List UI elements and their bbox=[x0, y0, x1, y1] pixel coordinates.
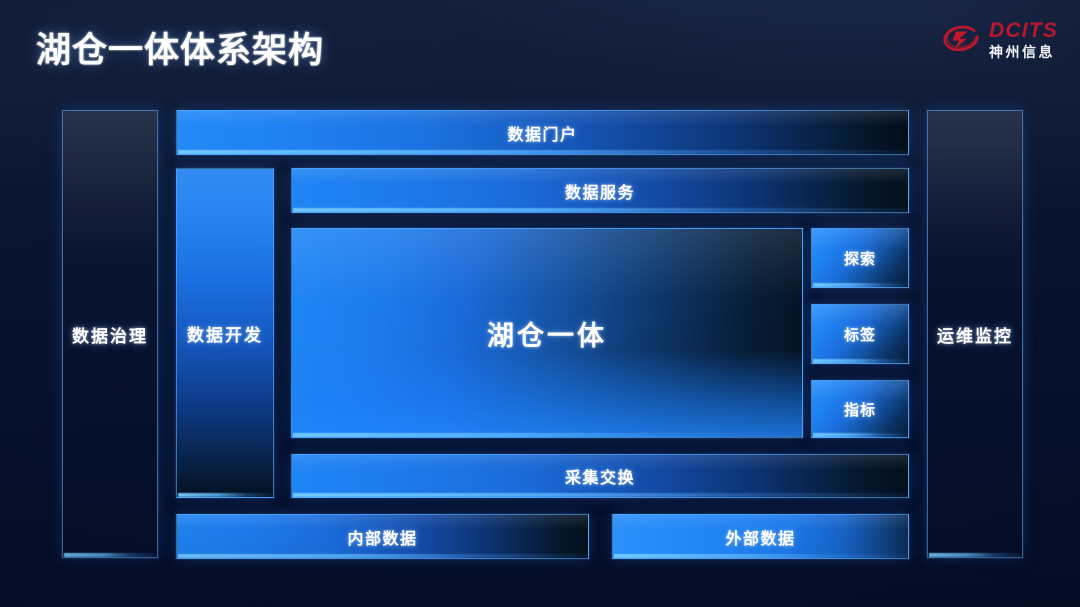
logo-subtitle: 神州信息 bbox=[989, 45, 1058, 59]
panel-tile-explore-label: 探索 bbox=[844, 248, 876, 269]
logo-wordmark: DCITS 神州信息 bbox=[989, 20, 1058, 59]
panel-tile-tags-label: 标签 bbox=[844, 324, 876, 345]
panel-data-portal-label: 数据门户 bbox=[507, 121, 577, 145]
panel-data-service-label: 数据服务 bbox=[565, 179, 635, 203]
page-title: 湖仓一体体系架构 bbox=[36, 22, 324, 73]
panel-lakehouse-core-label: 湖仓一体 bbox=[487, 314, 607, 353]
swirl-logo-icon bbox=[940, 22, 982, 58]
brand-logo: DCITS 神州信息 bbox=[940, 20, 1058, 59]
slide-root: 湖仓一体体系架构 DCITS 神州信息 数据治理 数据门户 数据开发 数据服 bbox=[0, 0, 1080, 607]
panel-tile-explore[interactable]: 探索 bbox=[811, 228, 909, 288]
panel-collect-exchange[interactable]: 采集交换 bbox=[291, 454, 909, 498]
panel-ops-monitoring[interactable]: 运维监控 bbox=[927, 110, 1023, 558]
panel-data-service[interactable]: 数据服务 bbox=[291, 168, 909, 213]
panel-internal-data-label: 内部数据 bbox=[347, 525, 417, 549]
panel-lakehouse-core[interactable]: 湖仓一体 bbox=[291, 228, 803, 438]
panel-data-governance-label: 数据治理 bbox=[72, 322, 148, 347]
slide-header: 湖仓一体体系架构 DCITS 神州信息 bbox=[0, 0, 1080, 96]
panel-tile-metrics[interactable]: 指标 bbox=[811, 380, 909, 438]
panel-ops-monitoring-label: 运维监控 bbox=[937, 322, 1013, 347]
panel-data-development-label: 数据开发 bbox=[187, 321, 263, 346]
panel-internal-data[interactable]: 内部数据 bbox=[176, 514, 589, 559]
panel-tile-metrics-label: 指标 bbox=[844, 399, 876, 420]
logo-name: DCITS bbox=[989, 20, 1058, 41]
panel-data-portal[interactable]: 数据门户 bbox=[176, 110, 909, 155]
panel-data-development[interactable]: 数据开发 bbox=[176, 168, 274, 498]
panel-data-governance[interactable]: 数据治理 bbox=[62, 110, 158, 558]
panel-external-data-label: 外部数据 bbox=[725, 525, 795, 549]
panel-external-data[interactable]: 外部数据 bbox=[612, 514, 909, 559]
panel-collect-exchange-label: 采集交换 bbox=[565, 464, 635, 488]
panel-tile-tags[interactable]: 标签 bbox=[811, 304, 909, 364]
